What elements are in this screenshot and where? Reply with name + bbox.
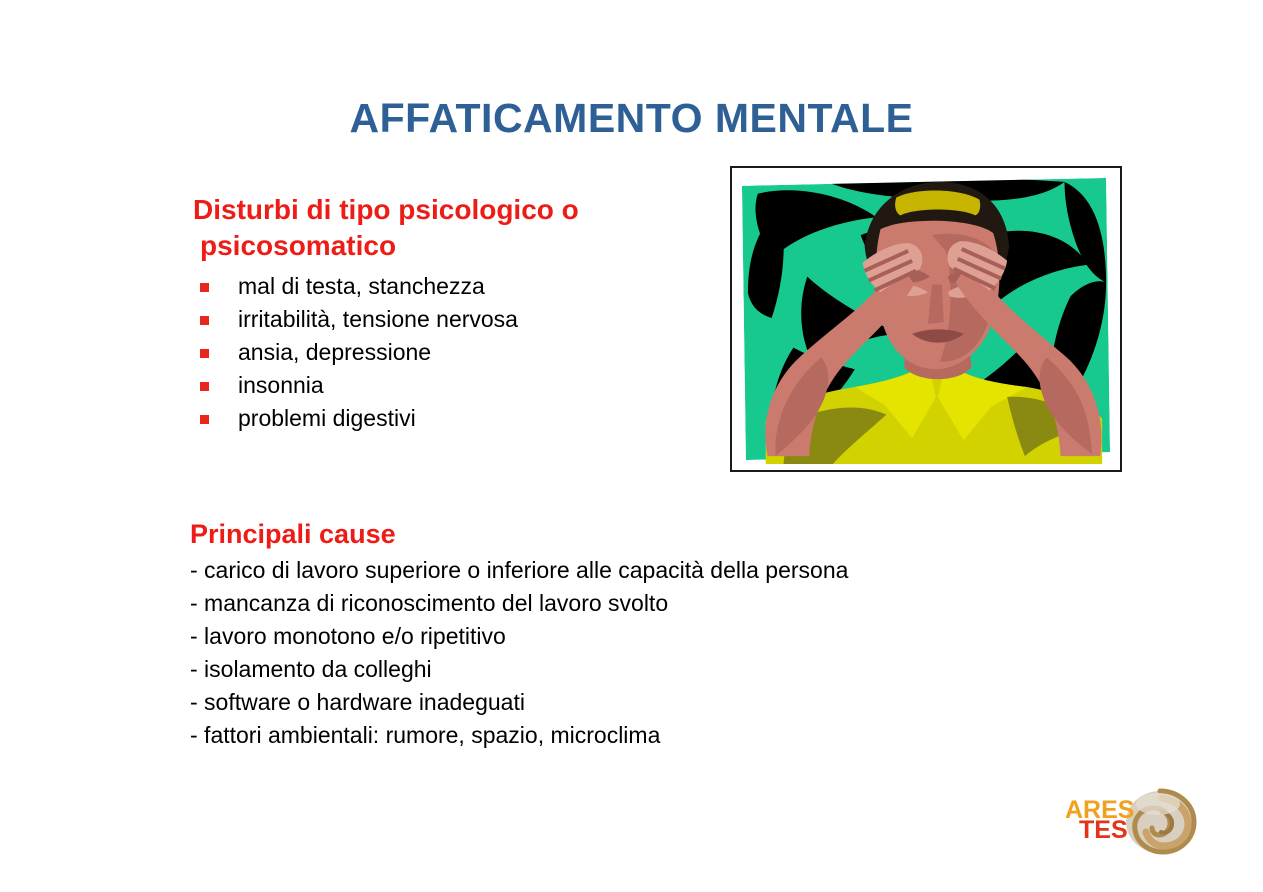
list-item: problemi digestivi bbox=[193, 402, 733, 435]
man-with-headache-clipart bbox=[738, 174, 1114, 464]
causes-list: - carico di lavoro superiore o inferiore… bbox=[190, 554, 1090, 752]
square-bullet-icon bbox=[200, 283, 209, 292]
list-item: - carico di lavoro superiore o inferiore… bbox=[190, 554, 1090, 587]
list-item-label: irritabilità, tensione nervosa bbox=[238, 306, 518, 332]
square-bullet-icon bbox=[200, 415, 209, 424]
list-item: ansia, depressione bbox=[193, 336, 733, 369]
logo-svg: ARES TES bbox=[1063, 786, 1213, 858]
slide-canvas: AFFATICAMENTO MENTALE Disturbi di tipo p… bbox=[0, 0, 1263, 892]
square-bullet-icon bbox=[200, 316, 209, 325]
causes-section: Principali cause - carico di lavoro supe… bbox=[190, 517, 1090, 752]
list-item-label: problemi digestivi bbox=[238, 405, 416, 431]
symptoms-list: mal di testa, stanchezza irritabilità, t… bbox=[193, 270, 733, 435]
logo-text-secondary: TES bbox=[1079, 816, 1128, 844]
symptoms-heading-line1: Disturbi di tipo psicologico o bbox=[193, 194, 579, 225]
list-item: - lavoro monotono e/o ripetitivo bbox=[190, 620, 1090, 653]
illustration-frame bbox=[730, 166, 1122, 472]
symptoms-section: Disturbi di tipo psicologico o psicosoma… bbox=[193, 192, 733, 435]
list-item: - mancanza di riconoscimento del lavoro … bbox=[190, 587, 1090, 620]
list-item: - software o hardware inadeguati bbox=[190, 686, 1090, 719]
nautilus-shell-icon bbox=[1126, 791, 1194, 853]
square-bullet-icon bbox=[200, 349, 209, 358]
headache-illustration-svg bbox=[738, 174, 1114, 464]
ares-tes-logo: ARES TES bbox=[1063, 786, 1213, 858]
list-item-label: insonnia bbox=[238, 372, 324, 398]
list-item-label: mal di testa, stanchezza bbox=[238, 273, 485, 299]
symptoms-heading-line2: psicosomatico bbox=[193, 228, 733, 264]
list-item: mal di testa, stanchezza bbox=[193, 270, 733, 303]
list-item: - isolamento da colleghi bbox=[190, 653, 1090, 686]
list-item-label: ansia, depressione bbox=[238, 339, 431, 365]
list-item: - fattori ambientali: rumore, spazio, mi… bbox=[190, 719, 1090, 752]
square-bullet-icon bbox=[200, 382, 209, 391]
list-item: irritabilità, tensione nervosa bbox=[193, 303, 733, 336]
page-title: AFFATICAMENTO MENTALE bbox=[0, 95, 1263, 142]
list-item: insonnia bbox=[193, 369, 733, 402]
causes-heading: Principali cause bbox=[190, 517, 1090, 551]
symptoms-heading: Disturbi di tipo psicologico o psicosoma… bbox=[193, 192, 733, 264]
